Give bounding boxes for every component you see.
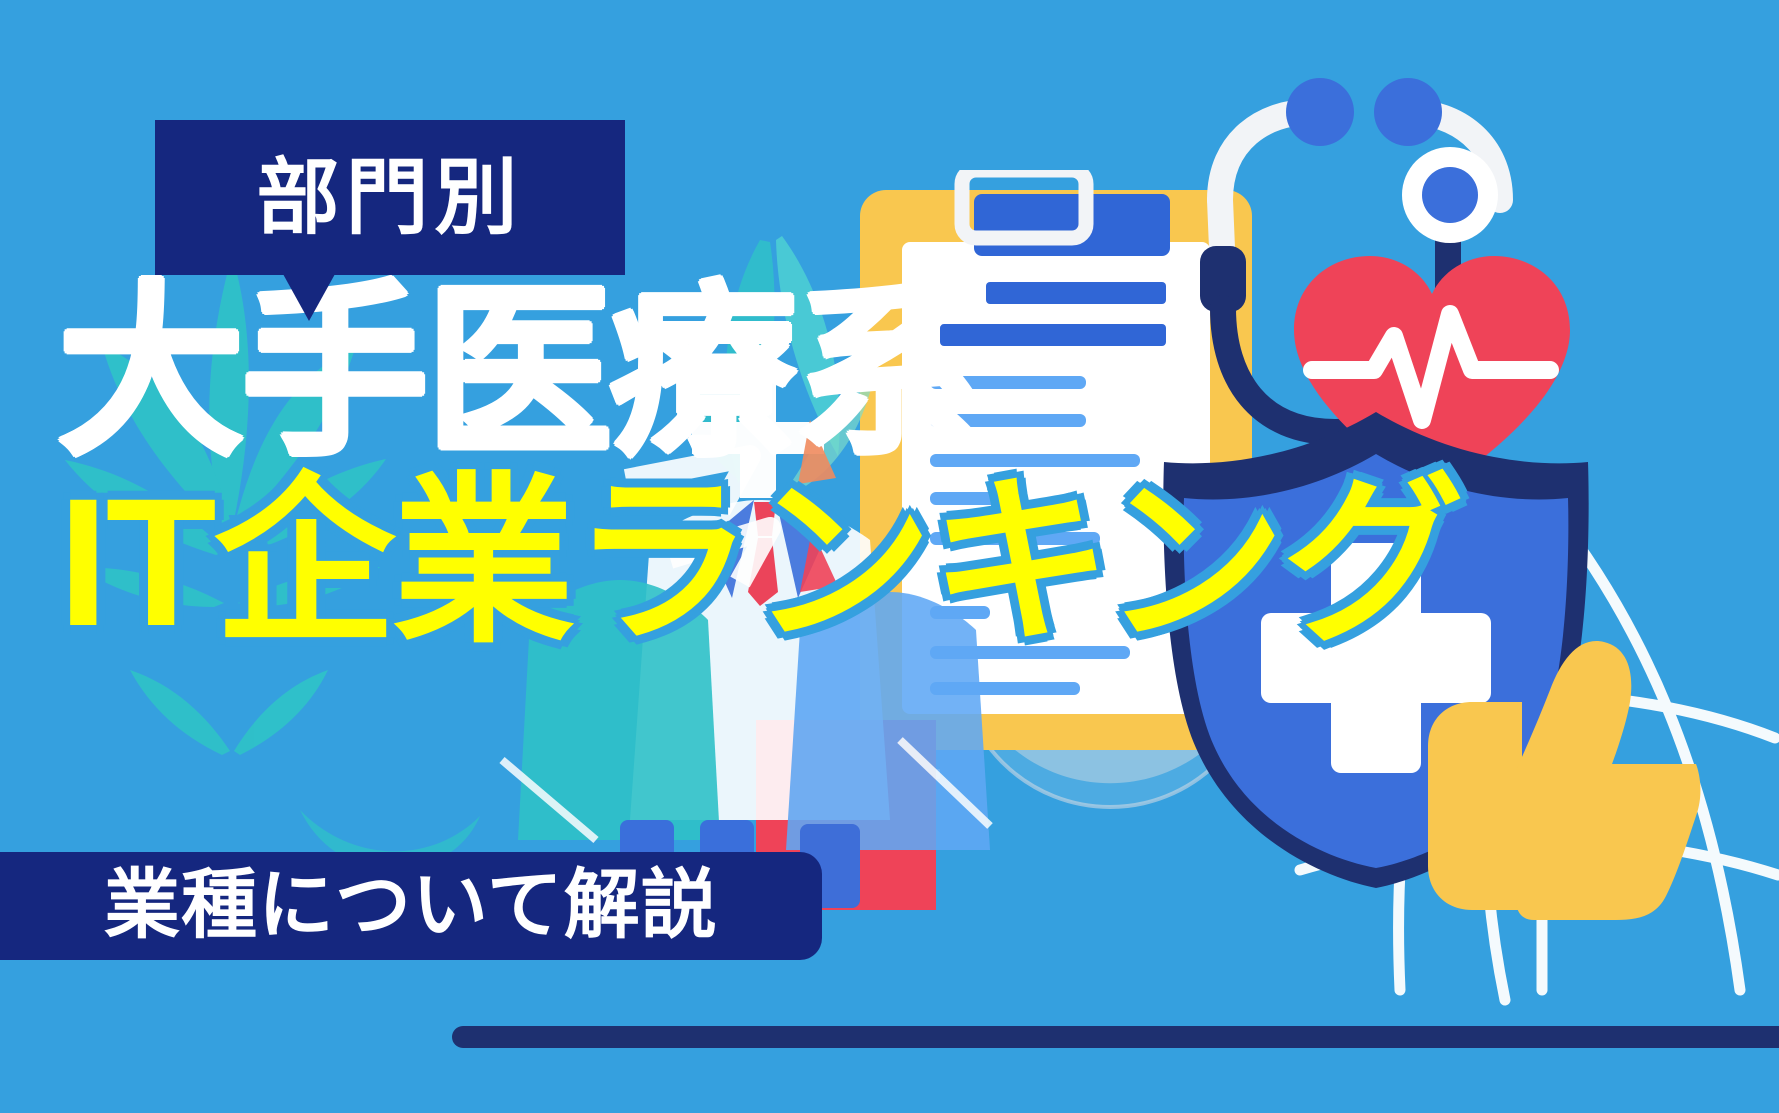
thumbnail-canvas: 部門別 大手医療系 IT企業ランキング 業種について解説 [0, 0, 1779, 1113]
ground-bar [452, 1026, 1779, 1048]
thumbs-up-icon [1366, 620, 1706, 940]
badge-body: 部門別 [155, 120, 625, 275]
headline-line-2: IT企業ランキング [58, 473, 1358, 651]
subtitle-label: 業種について解説 [104, 868, 718, 944]
headline-line-1: 大手医療系 [58, 283, 1358, 465]
category-badge: 部門別 [155, 120, 625, 275]
badge-label: 部門別 [257, 156, 524, 239]
subtitle-banner: 業種について解説 [0, 852, 822, 960]
badge-tail-icon [283, 274, 335, 321]
headline-block: 大手医療系 IT企業ランキング [58, 283, 1358, 652]
